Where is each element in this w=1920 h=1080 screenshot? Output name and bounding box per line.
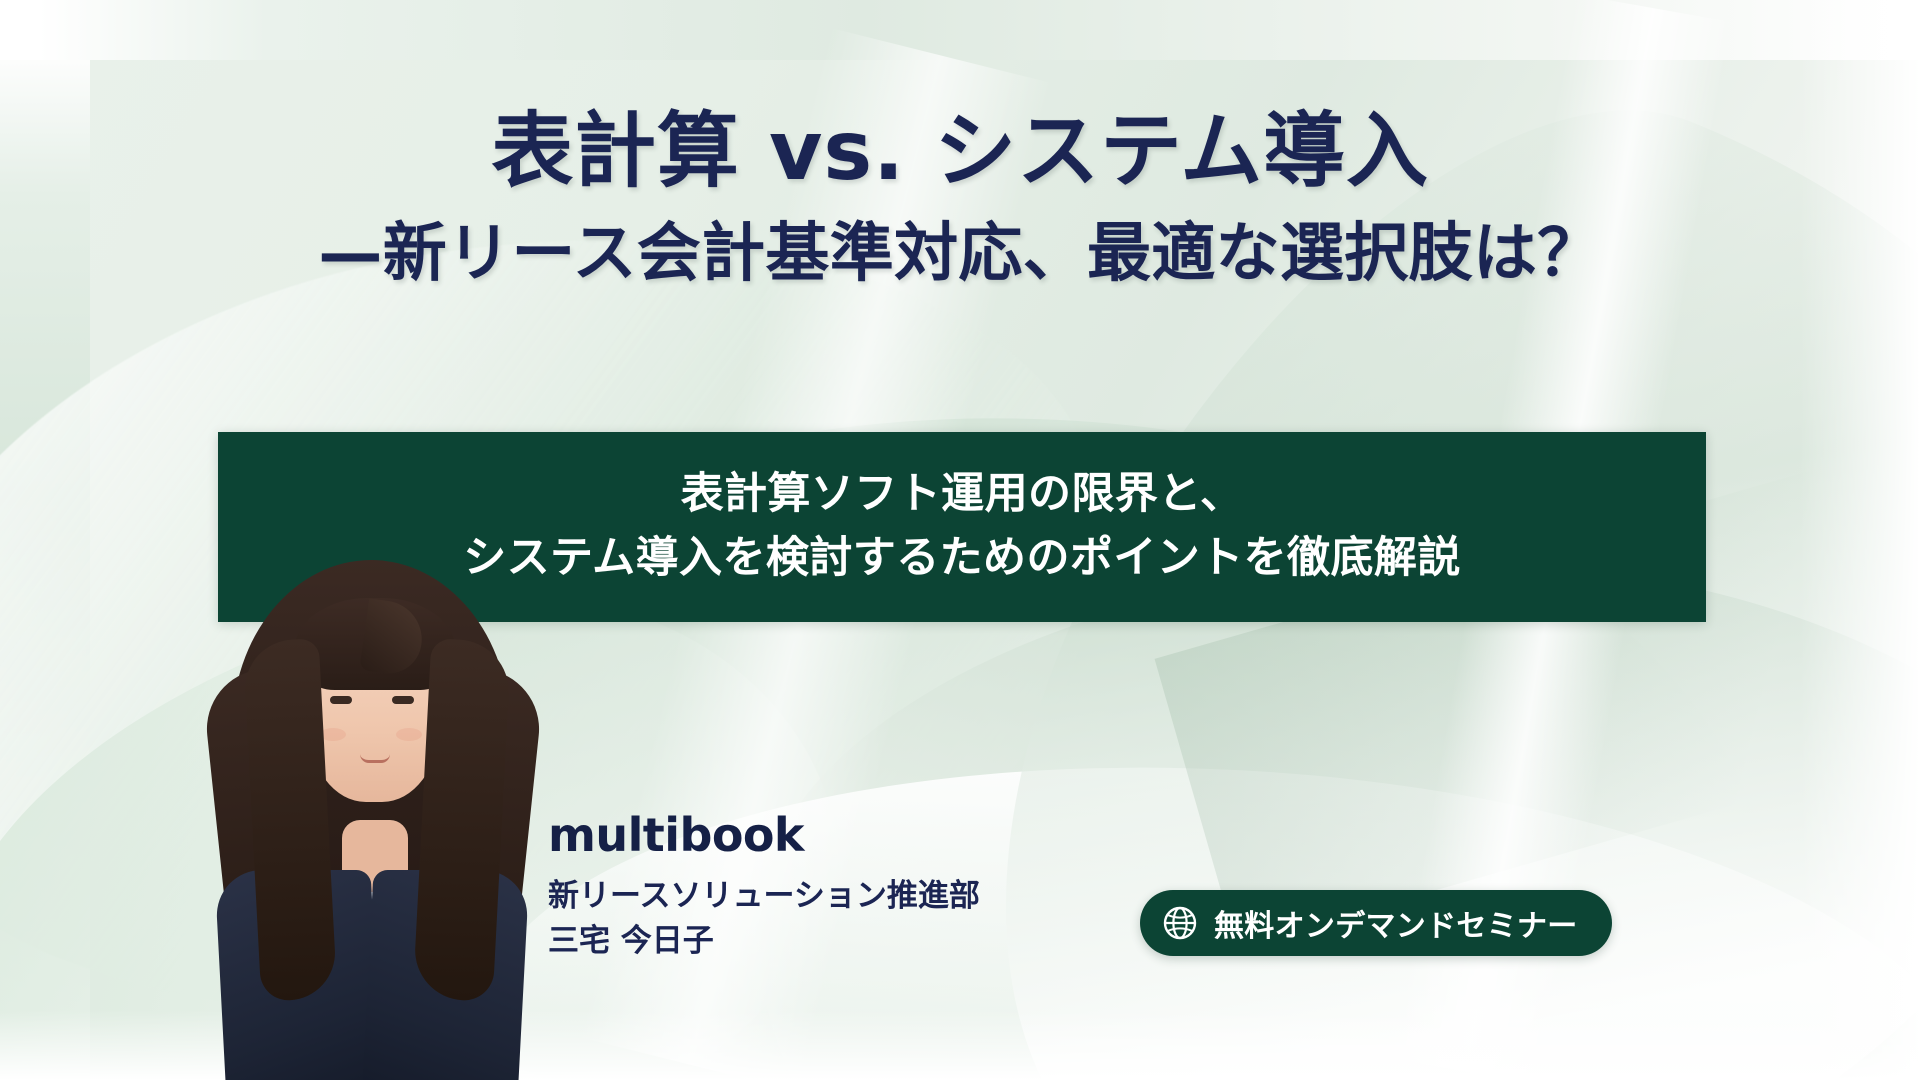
photo-eye-left: [330, 696, 352, 704]
globe-icon: [1162, 905, 1198, 941]
multibook-logo: multibook: [548, 812, 1248, 858]
photo-blush-left: [320, 728, 346, 741]
badge-label: 無料オンデマンドセミナー: [1214, 901, 1578, 945]
photo-blush-right: [396, 728, 422, 741]
seminar-type-badge: 無料オンデマンドセミナー: [1140, 890, 1612, 956]
description-line-2: システム導入を検討するためのポイントを徹底解説: [463, 527, 1461, 591]
photo-mouth: [360, 754, 390, 763]
page-subtitle: —新リース会計基準対応、最適な選択肢は？: [0, 219, 1920, 289]
seminar-banner-slide: 表計算 vs. システム導入 —新リース会計基準対応、最適な選択肢は？ 表計算ソ…: [0, 0, 1920, 1080]
page-title: 表計算 vs. システム導入: [0, 108, 1920, 197]
photo-eye-right: [392, 696, 414, 704]
headline-block: 表計算 vs. システム導入 —新リース会計基準対応、最適な選択肢は？: [0, 108, 1920, 289]
presenter-photo: [196, 520, 546, 1080]
description-line-1: 表計算ソフト運用の限界と、: [681, 463, 1244, 527]
credits-block: multibook 新リースソリューション推進部 三宅 今日子: [548, 812, 1248, 964]
